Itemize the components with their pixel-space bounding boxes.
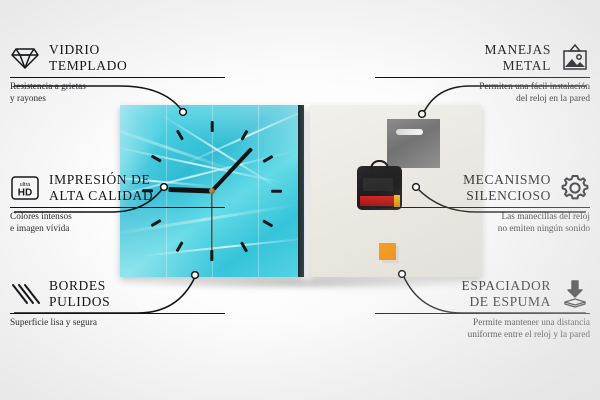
feature-subtitle: Permite mantener una distancia uniforme … [375,318,590,341]
clock-side-edge [298,105,304,277]
feature-impresion-alta-calidad: ultra HD IMPRESIÓN DE ALTA CALIDAD Color… [10,172,225,235]
feature-divider [375,77,590,78]
feature-title: MECANISMO SILENCIOSO [463,172,551,203]
feature-espaciador-espuma: ESPACIADOR DE ESPUMA Permite mantener un… [375,278,590,341]
feature-manejas-metal: MANEJAS METAL Permiten una fácil instala… [375,42,590,105]
feature-bordes-pulidos: BORDES PULIDOS Superficie lisa y segura [10,278,225,330]
feature-header: BORDES PULIDOS [10,278,225,309]
metal-hanger-plate [387,119,440,168]
feature-subtitle: Las manecillas del reloj no emiten ningú… [375,212,590,235]
infographic-canvas: VIDRIO TEMPLADO Resistencia a grietas y … [0,0,600,400]
feature-title: IMPRESIÓN DE ALTA CALIDAD [49,172,153,203]
feature-header: ESPACIADOR DE ESPUMA [375,278,590,309]
hanger-slot [396,129,423,135]
spacer-arrow-icon [560,279,590,309]
polished-edges-icon [10,281,40,307]
feature-title: MANEJAS METAL [485,42,551,73]
feature-header: MANEJAS METAL [375,42,590,73]
feature-header: ultra HD IMPRESIÓN DE ALTA CALIDAD [10,172,225,203]
feature-title: ESPACIADOR DE ESPUMA [461,278,551,309]
ultra-hd-icon: ultra HD [10,174,40,202]
hour-marker [262,155,273,163]
feature-subtitle: Permiten una fácil instalación del reloj… [375,82,590,105]
hour-marker [176,130,184,141]
wall-frame-hanger-icon [560,43,590,73]
feature-subtitle: Superficie lisa y segura [10,318,225,330]
feature-vidrio-templado: VIDRIO TEMPLADO Resistencia a grietas y … [10,42,225,105]
feature-title: BORDES PULIDOS [49,278,110,309]
feature-divider [375,207,590,208]
feature-mecanismo-silencioso: MECANISMO SILENCIOSO Las manecillas del … [375,172,590,235]
feature-header: VIDRIO TEMPLADO [10,42,225,73]
feature-title: VIDRIO TEMPLADO [49,42,127,73]
gear-icon [560,173,590,203]
feature-header: MECANISMO SILENCIOSO [375,172,590,203]
hour-marker [211,121,214,132]
hour-marker [262,219,273,227]
feature-divider [375,313,590,314]
hour-marker [271,190,282,193]
feature-subtitle: Resistencia a grietas y rayones [10,82,225,105]
feature-divider [10,313,225,314]
feature-divider [10,77,225,78]
feature-subtitle: Colores intensos e imagen vívida [10,212,225,235]
feature-divider [10,207,225,208]
svg-text:HD: HD [18,187,32,198]
foam-spacer-pad [379,243,396,260]
diamond-icon [10,45,40,71]
